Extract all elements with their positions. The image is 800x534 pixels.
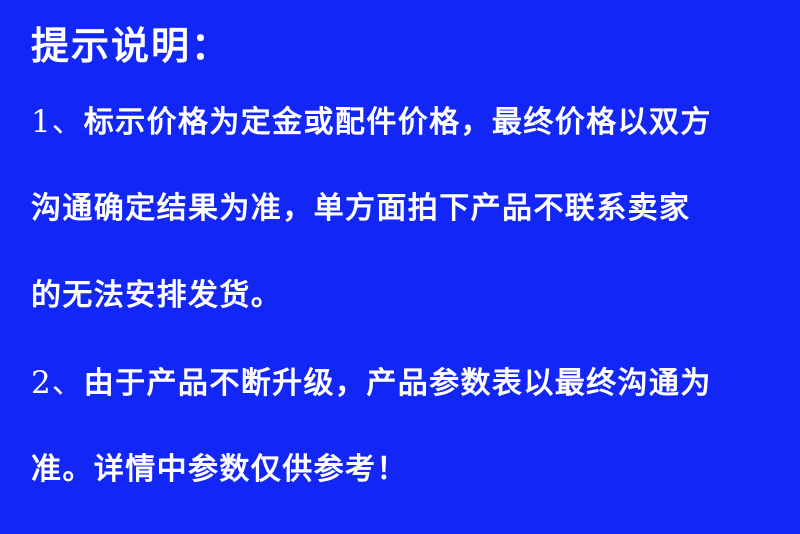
notice-line-1: 1、标示价格为定金或配件价格，最终价格以双方 (0, 100, 800, 187)
list-marker-1: 1、 (31, 100, 84, 144)
list-marker-4: 2、 (31, 361, 84, 405)
notice-line-1-text: 标示价格为定金或配件价格，最终价格以双方 (84, 101, 712, 145)
notice-line-5: 准。详情中参数仅供参考！ (0, 448, 800, 534)
notice-line-4-text: 由于产品不断升级，产品参数表以最终沟通为 (84, 362, 712, 406)
notice-banner: 提示说明： 1、标示价格为定金或配件价格，最终价格以双方 沟通确定结果为准，单方… (0, 0, 800, 534)
notice-line-3-text: 的无法安排发货。 (31, 274, 282, 318)
page-title: 提示说明： (31, 22, 231, 70)
notice-line-3: 的无法安排发货。 (0, 274, 800, 361)
notice-line-2: 沟通确定结果为准，单方面拍下产品不联系卖家 (0, 187, 800, 274)
notice-line-5-text: 准。详情中参数仅供参考！ (31, 448, 408, 492)
notice-body: 1、标示价格为定金或配件价格，最终价格以双方 沟通确定结果为准，单方面拍下产品不… (0, 100, 800, 534)
notice-line-4: 2、由于产品不断升级，产品参数表以最终沟通为 (0, 361, 800, 448)
notice-line-2-text: 沟通确定结果为准，单方面拍下产品不联系卖家 (31, 187, 690, 231)
